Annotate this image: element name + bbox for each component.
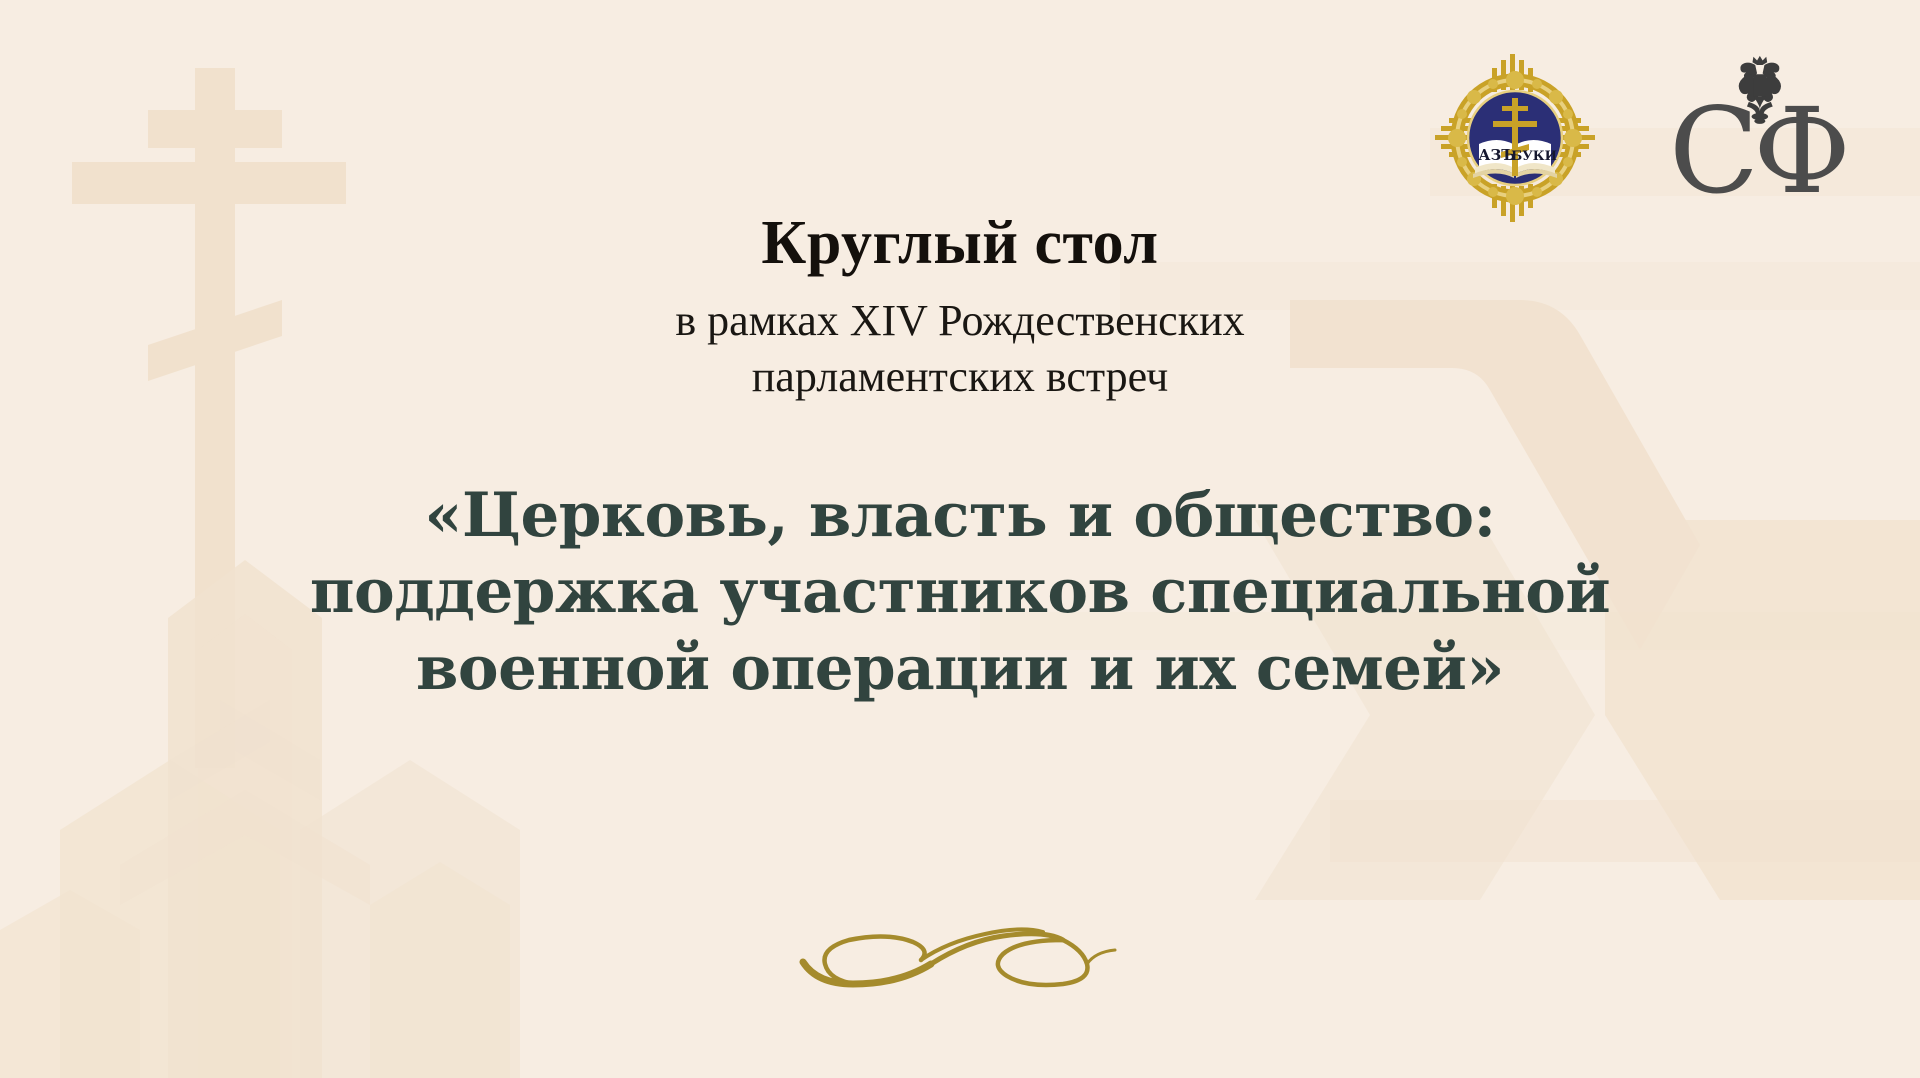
- event-type-heading: Круглый стол: [0, 210, 1920, 277]
- federation-council-logo: СФ: [1653, 52, 1868, 212]
- event-context-subtitle: в рамках XIV Рождественских парламентски…: [0, 293, 1920, 406]
- roundtable-main-title: «Церковь, власть и общество: поддержка у…: [0, 478, 1920, 709]
- presentation-slide: АЗЪ БУКИ СФ Круглый стол: [0, 0, 1920, 1078]
- main-title-line-1: «Церковь, власть и общество:: [130, 478, 1790, 555]
- main-title-line-3: военной операции и их семей»: [130, 631, 1790, 708]
- book-left-text: АЗЪ: [1478, 146, 1515, 164]
- book-right-text: БУКИ: [1511, 149, 1557, 164]
- subtitle-line-2: парламентских встреч: [380, 349, 1540, 405]
- federation-council-letters: СФ: [1669, 82, 1845, 212]
- christmas-readings-emblem-icon: АЗЪ БУКИ: [1435, 52, 1595, 224]
- logo-row: АЗЪ БУКИ СФ: [1435, 52, 1868, 224]
- slide-text-content: Круглый стол в рамках XIV Рождественских…: [0, 210, 1920, 708]
- decorative-flourish: [795, 906, 1125, 1006]
- calligraphic-flourish-icon: [795, 906, 1125, 1006]
- subtitle-line-1: в рамках XIV Рождественских: [380, 293, 1540, 349]
- main-title-line-2: поддержка участников специальной: [130, 554, 1790, 631]
